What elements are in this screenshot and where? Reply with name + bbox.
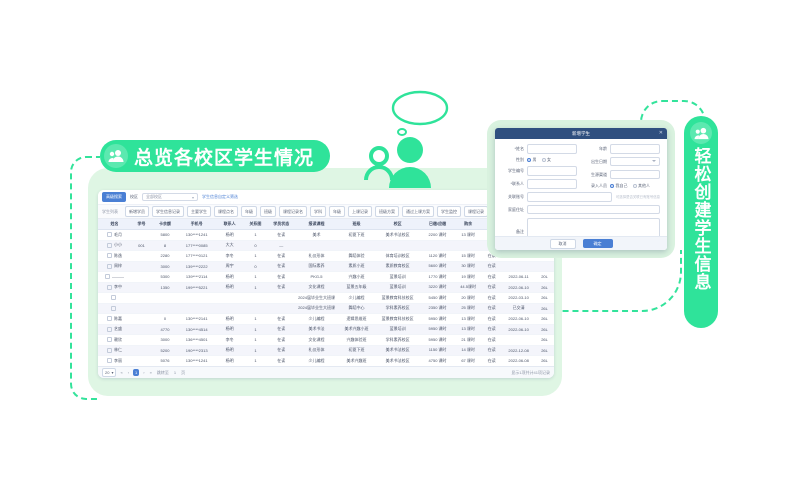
table-row[interactable]: 陈嘉0130****2141杨明1在读少儿编程逻辑思维班蓝景教育科技校区5950…	[98, 314, 554, 325]
field-input[interactable]	[610, 157, 660, 167]
table-cell-campus: 蓝景培训	[375, 324, 420, 335]
column-header[interactable]: 学员状态	[267, 219, 295, 230]
table-cell-name: 周梓	[98, 261, 131, 272]
table-cell-status: 在读	[267, 314, 295, 325]
radio-option[interactable]: 我自己	[610, 183, 628, 189]
row-checkbox[interactable]	[105, 274, 110, 279]
table-cell-left: 20 课时	[455, 293, 481, 304]
people-icon	[104, 144, 128, 168]
table-cell-st: 在读	[481, 335, 502, 346]
table-cell-sid: 001	[131, 240, 152, 251]
table-cell-left: 30 课时	[455, 261, 481, 272]
table-cell-name-text: 毛月	[114, 232, 122, 237]
column-header[interactable]: 手机号	[178, 219, 216, 230]
toolbar-button[interactable]: 学科	[310, 206, 326, 217]
table-cell-pct: 20L	[535, 272, 554, 283]
table-cell-left: 44.5课时	[455, 282, 481, 293]
table-cell-course: PKG-5	[295, 272, 337, 283]
table-cell-rel: 1	[244, 251, 268, 262]
page-next-button[interactable]: ›	[142, 370, 145, 375]
table-row[interactable]: 2024届毕业生大班课少儿编程蓝景教育科技校区5450 课时20 课时在读202…	[98, 293, 554, 304]
table-cell-rel: 1	[244, 356, 268, 367]
table-cell-contact: 杨明	[215, 345, 243, 356]
toolbar-button-group: 新增学员学生信息记录主要学生课程点名年级班级课程记录名学科年级上课记录班级方案通…	[125, 206, 488, 217]
row-checkbox[interactable]	[107, 337, 112, 342]
table-cell-sid	[131, 282, 152, 293]
table-cell-name-text: 李丽	[114, 358, 122, 363]
table-cell-balance: 5800	[152, 230, 178, 241]
table-cell-contact: 杨明	[215, 356, 243, 367]
table-cell-left: 67 课时	[455, 356, 481, 367]
table-cell-name: ———	[98, 272, 131, 283]
table-cell-sid	[131, 314, 152, 325]
table-cell-balance: 3000	[152, 335, 178, 346]
table-cell-name: 李中	[98, 282, 131, 293]
table-cell-balance: 1350	[152, 282, 178, 293]
field-label: *联系人	[502, 181, 524, 187]
table-cell-rel: 1	[244, 335, 268, 346]
table-cell-balance	[152, 303, 178, 314]
radio-option[interactable]: 其他人	[633, 183, 651, 189]
table-cell-paid: 1120 课时	[420, 251, 455, 262]
table-cell-balance: 2280	[152, 251, 178, 262]
table-cell-cls: 美术兴趣班	[338, 356, 376, 367]
form-row: 出生日期	[585, 157, 660, 167]
toolbar-button[interactable]: 年级	[241, 206, 257, 217]
form-row: 性别男女	[502, 157, 577, 163]
table-cell-contact	[215, 303, 243, 314]
table-cell-sid	[131, 303, 152, 314]
table-cell-date: 2022-06-10	[502, 324, 535, 335]
close-icon[interactable]: ✕	[659, 130, 663, 136]
table-row[interactable]: 李丽5076130****1241杨明1在读少儿编程美术兴趣班美术书法校区475…	[98, 356, 554, 367]
radio-label: 女	[547, 157, 551, 163]
form-row: 家庭住址	[502, 205, 660, 215]
table-cell-st: 在读	[481, 324, 502, 335]
column-header[interactable]: 班级	[338, 219, 376, 230]
table-cell-name-text: 赖欣	[114, 337, 122, 342]
radio-dot-icon	[633, 184, 637, 188]
form-row: 年龄	[585, 144, 660, 154]
table-cell-name: 陈嘉	[98, 314, 131, 325]
table-cell-paid: 2200 课时	[420, 230, 455, 241]
row-checkbox[interactable]	[107, 327, 112, 332]
table-cell-pct: 26L	[535, 303, 554, 314]
field-label: 学生编号	[502, 168, 524, 174]
table-cell-contact: 周宇	[215, 261, 243, 272]
page-current[interactable]: 1	[133, 369, 139, 376]
table-cell-name-text: 小小	[114, 242, 122, 247]
confirm-button[interactable]: 确定	[583, 239, 613, 249]
table-cell-pct: 26L	[535, 293, 554, 304]
table-cell-sid	[131, 272, 152, 283]
toolbar-title: 学生列表	[102, 209, 118, 215]
pagination-bar: 20 ▾ « ‹ 1 › » 跳转至 1 页 显示1项共计41项记录	[98, 366, 554, 378]
toolbar-button[interactable]: 班级方案	[375, 206, 399, 217]
table-cell-campus: 美术书法校区	[375, 345, 420, 356]
table-cell-status: 在读	[267, 356, 295, 367]
table-cell-cls: 少儿编程	[338, 293, 376, 304]
table-cell-phone: 136****4501	[178, 335, 216, 346]
table-cell-contact: 李冬	[215, 335, 243, 346]
table-row[interactable]: 2024届毕业生大班课舞蹈中心学科素养校区2350 课时25 课时在读已交清26…	[98, 303, 554, 314]
row-checkbox[interactable]	[111, 306, 116, 311]
table-cell-st: 在读	[481, 345, 502, 356]
table-cell-name-text: 林仁	[114, 347, 122, 352]
form-row: *联系人	[502, 179, 577, 189]
table-cell-campus: 蓝景培训	[375, 282, 420, 293]
left-caption-text: 总览各校区学生情况	[134, 143, 314, 170]
radio-label: 男	[533, 157, 537, 163]
table-cell-course: 文化课程	[295, 282, 337, 293]
table-cell-cls: 舞蹈中心	[338, 303, 376, 314]
field-input[interactable]	[527, 179, 577, 189]
table-cell-course	[295, 240, 337, 251]
table-cell-cls: 初夏下班	[338, 230, 376, 241]
table-cell-rel: 1	[244, 314, 268, 325]
advanced-search-button[interactable]: 高级搜索	[102, 192, 126, 202]
table-row[interactable]: ———5300139****2114杨明1在读PKG-5兴趣小班蓝景培训1770…	[98, 272, 554, 283]
table-cell-sid	[131, 293, 152, 304]
table-cell-cls: 兴趣体验班	[338, 335, 376, 346]
row-checkbox[interactable]	[107, 243, 112, 248]
table-cell-cls: 蓝景五年级	[338, 282, 376, 293]
table-cell-left: 19 课时	[455, 272, 481, 283]
row-checkbox[interactable]	[107, 253, 112, 258]
table-cell-rel: 1	[244, 324, 268, 335]
create-student-dialog: 新增学生 ✕ *姓名性别男女学生编号*联系人 年龄出生日期生源渠道录入人员我自己…	[495, 128, 667, 250]
chevron-down-icon: ▾	[111, 370, 113, 375]
table-cell-status: 在读	[267, 261, 295, 272]
page-first-button[interactable]: «	[119, 370, 123, 375]
table-cell-course: 2024届毕业生大班课	[295, 293, 337, 304]
table-cell-st: 在读	[481, 282, 502, 293]
table-cell-name: 毛月	[98, 230, 131, 241]
toolbar-button[interactable]: 新增学员	[125, 206, 149, 217]
field-hint: 可选择是否关联已有账号信息	[616, 194, 660, 199]
table-cell-sid	[131, 345, 152, 356]
table-cell-name-text: ———	[112, 274, 124, 279]
table-cell-sid	[131, 335, 152, 346]
dialog-title-bar: 新增学生 ✕	[495, 128, 667, 139]
dialog-body: *姓名性别男女学生编号*联系人 年龄出生日期生源渠道录入人员我自己其他人 关联账…	[495, 139, 667, 246]
table-cell-name: 陈逸	[98, 251, 131, 262]
table-row[interactable]: 毛月5800130****1241杨明1在读美术初夏下班美术书法校区2200 课…	[98, 230, 554, 241]
dialog-title: 新增学生	[572, 131, 590, 137]
table-cell-cls: 素质小班	[338, 261, 376, 272]
toolbar-button[interactable]: 课程记录名	[279, 206, 307, 217]
filter-bar: 高级搜索 校区 全部校区 ▾ 学生信息自定义筛选	[98, 190, 554, 205]
table-cell-campus	[375, 240, 420, 251]
table-cell-name-text: 艺盛	[114, 326, 122, 331]
radio-label: 我自己	[616, 183, 628, 189]
table-cell-balance: 5200	[152, 345, 178, 356]
table-cell-contact: 杨明	[215, 272, 243, 283]
toolbar-button[interactable]: 课程点名	[214, 206, 238, 217]
table-cell-st: 在读	[481, 293, 502, 304]
radio-option[interactable]: 男	[527, 157, 537, 163]
table-cell-phone	[178, 293, 216, 304]
dialog-right-column: 年龄出生日期生源渠道录入人员我自己其他人	[585, 144, 660, 192]
form-row: 学生编号	[502, 166, 577, 176]
jump-label: 跳转至	[156, 370, 170, 376]
custom-filter-link[interactable]: 学生信息自定义筛选	[202, 194, 238, 200]
toolbar-button[interactable]: 学生监控	[437, 206, 461, 217]
table-cell-paid: 5950 课时	[420, 335, 455, 346]
table-cell-contact: 杨明	[215, 282, 243, 293]
toolbar-button[interactable]: 主要学生	[187, 206, 211, 217]
table-cell-name: 艺盛	[98, 324, 131, 335]
table-cell-date: 2022-06-08	[502, 356, 535, 367]
table-cell-st: 在读	[481, 272, 502, 283]
table-cell-sid	[131, 251, 152, 262]
toolbar-button[interactable]: 班级	[260, 206, 276, 217]
table-cell-pct: 26L	[535, 356, 554, 367]
table-cell-status: 在读	[267, 324, 295, 335]
table-cell-left: 21 课时	[455, 335, 481, 346]
column-header[interactable]: 已缴/应缴	[420, 219, 455, 230]
table-cell-date: 2022-06-10	[502, 314, 535, 325]
table-cell-name-text: 李中	[114, 284, 122, 289]
table-cell-left: 15 课时	[455, 251, 481, 262]
table-cell-balance: 4770	[152, 324, 178, 335]
table-cell-paid: 5950 课时	[420, 324, 455, 335]
table-cell-name-text: 周梓	[114, 263, 122, 268]
form-row: 生源渠道	[585, 170, 660, 180]
table-cell-st: 在读	[481, 314, 502, 325]
page-size-value: 20	[105, 370, 109, 375]
field-label: *姓名	[502, 146, 524, 152]
table-cell-contact: 杨明	[215, 230, 243, 241]
table-cell-pct: 26L	[535, 314, 554, 325]
people-illustration	[358, 88, 468, 188]
student-table: 姓名学号卡余额手机号联系人关系图学员状态报读课程班级校区已缴/应缴购余状态缴费日…	[98, 219, 554, 377]
column-header[interactable]: 联系人	[215, 219, 243, 230]
field-input[interactable]	[527, 144, 577, 154]
table-cell-phone: 139****2114	[178, 272, 216, 283]
row-checkbox[interactable]	[111, 295, 116, 300]
table-cell-st: 在读	[481, 303, 502, 314]
table-cell-rel	[244, 293, 268, 304]
table-cell-course: 文化课程	[295, 335, 337, 346]
table-cell-course: 礼仪形体	[295, 345, 337, 356]
table-cell-phone	[178, 303, 216, 314]
field-label: 备注	[502, 229, 524, 235]
jump-input[interactable]: 1	[173, 370, 177, 375]
field-input[interactable]	[527, 205, 660, 215]
table-cell-paid: 5950 课时	[420, 314, 455, 325]
table-cell-left: 14 课时	[455, 345, 481, 356]
form-row: *姓名	[502, 144, 577, 154]
row-checkbox[interactable]	[107, 316, 112, 321]
people-icon	[690, 122, 712, 144]
table-cell-balance: 3000	[152, 261, 178, 272]
table-body: 毛月5800130****1241杨明1在读美术初夏下班美术书法校区2200 课…	[98, 230, 554, 377]
table-cell-st: 在读	[481, 356, 502, 367]
table-cell-cls: 兴趣小班	[338, 272, 376, 283]
table-cell-course: 礼仪形体	[295, 251, 337, 262]
field-label: 生源渠道	[585, 172, 607, 178]
table-cell-paid: 1770 课时	[420, 272, 455, 283]
field-input[interactable]	[527, 166, 577, 176]
table-row[interactable]: 林仁5200190****2313杨明1在读礼仪形体初夏下班美术书法校区1150…	[98, 345, 554, 356]
column-header[interactable]: 关系图	[244, 219, 268, 230]
radio-dot-icon	[527, 158, 531, 162]
table-cell-course: 美术	[295, 230, 337, 241]
table-cell-rel: 0	[244, 261, 268, 272]
table-cell-campus: 美术书法校区	[375, 356, 420, 367]
table-cell-phone: 190****2313	[178, 345, 216, 356]
table-cell-left: 13 课时	[455, 314, 481, 325]
table-header-row: 姓名学号卡余额手机号联系人关系图学员状态报读课程班级校区已缴/应缴购余状态缴费日…	[98, 219, 554, 230]
table-row[interactable]: 赖欣3000136****4501李冬1在读文化课程兴趣体验班学科素养校区595…	[98, 335, 554, 346]
table-cell-cls: 逻辑思维班	[338, 314, 376, 325]
jump-unit: 页	[180, 370, 186, 376]
row-checkbox[interactable]	[107, 232, 112, 237]
table-cell-name	[98, 303, 131, 314]
chevron-down-icon: ▾	[192, 195, 194, 200]
dialog-left-column: *姓名性别男女学生编号*联系人	[502, 144, 577, 192]
page-last-button[interactable]: »	[149, 370, 153, 375]
table-cell-name	[98, 293, 131, 304]
form-row: 录入人员我自己其他人	[585, 183, 660, 189]
table-cell-balance	[152, 293, 178, 304]
table-row[interactable]: 李中1350199****5221杨明1在读文化课程蓝景五年级蓝景培训3220 …	[98, 282, 554, 293]
column-header[interactable]: 购余	[455, 219, 481, 230]
table-cell-date: 2022-12-08	[502, 345, 535, 356]
table-cell-phone: 177****0085	[178, 240, 216, 251]
table-cell-name-text: 陈逸	[114, 253, 122, 258]
field-label: 家庭住址	[502, 207, 524, 213]
table-cell-cls	[338, 240, 376, 251]
table-cell-course: 少儿编程	[295, 356, 337, 367]
column-header[interactable]: 学号	[131, 219, 152, 230]
table-cell-phone: 130****1241	[178, 356, 216, 367]
table-cell-rel: 1	[244, 282, 268, 293]
table-cell-contact: 杨明	[215, 314, 243, 325]
table-cell-st: 在读	[481, 261, 502, 272]
table-cell-pct: 26L	[535, 335, 554, 346]
table-cell-status: 在读	[267, 230, 295, 241]
page-size-select[interactable]: 20 ▾	[102, 368, 116, 377]
table-cell-status	[267, 303, 295, 314]
radio-dot-icon	[542, 158, 546, 162]
table-row[interactable]: 艺盛4770130****4514杨明1在读美术书法美术兴趣小班蓝景培训5950…	[98, 324, 554, 335]
table-cell-status: 在读	[267, 335, 295, 346]
table-cell-date: 2022-06-10	[502, 282, 535, 293]
table-cell-sid	[131, 261, 152, 272]
field-label: 性别	[502, 157, 524, 163]
toolbar-button[interactable]: 上课记录	[348, 206, 372, 217]
column-header[interactable]: 姓名	[98, 219, 131, 230]
table-cell-paid	[420, 240, 455, 251]
table-cell-contact: 大大	[215, 240, 243, 251]
campus-filter-select[interactable]: 全部校区 ▾	[142, 193, 198, 201]
table-cell-name: 林仁	[98, 345, 131, 356]
table-cell-sid	[131, 356, 152, 367]
table-cell-campus: 学科素养校区	[375, 303, 420, 314]
table-row[interactable]: 周梓3000139****2222周宇0在读国际素养素质小班素质教育校区5600…	[98, 261, 554, 272]
table-cell-phone: 139****2222	[178, 261, 216, 272]
table-cell-phone: 130****4514	[178, 324, 216, 335]
table-cell-rel: 1	[244, 345, 268, 356]
column-header[interactable]: 报读课程	[295, 219, 337, 230]
table-cell-contact: 杨明	[215, 324, 243, 335]
table-cell-paid: 5450 课时	[420, 293, 455, 304]
table-cell-name: 赖欣	[98, 335, 131, 346]
table-cell-cls: 舞蹈体验	[338, 251, 376, 262]
toolbar-button[interactable]: 课程记录	[464, 206, 488, 217]
table-cell-balance: 8	[152, 240, 178, 251]
table-cell-pct: 26L	[535, 345, 554, 356]
field-input[interactable]	[527, 192, 612, 202]
table-cell-paid: 1150 课时	[420, 345, 455, 356]
toolbar-button[interactable]: 通过上课方案	[402, 206, 434, 217]
table-row[interactable]: 小小0018177****0085大大0—	[98, 240, 554, 251]
field-input[interactable]	[610, 144, 660, 154]
table-cell-rel: 0	[244, 240, 268, 251]
table-cell-campus: 素质教育校区	[375, 261, 420, 272]
row-checkbox[interactable]	[107, 358, 112, 363]
page-prev-button[interactable]: ‹	[127, 370, 130, 375]
table-cell-status: 在读	[267, 272, 295, 283]
table-cell-phone: 199****5221	[178, 282, 216, 293]
table-cell-rel	[244, 303, 268, 314]
table-cell-balance: 5076	[152, 356, 178, 367]
table-cell-campus: 体育培训校区	[375, 251, 420, 262]
table-cell-name: 小小	[98, 240, 131, 251]
field-label: 录入人员	[585, 183, 607, 189]
table-cell-pct: 26L	[535, 282, 554, 293]
table-cell-left: 13 课时	[455, 230, 481, 241]
column-header[interactable]: 卡余额	[152, 219, 178, 230]
table-cell-cls: 初夏下班	[338, 345, 376, 356]
campus-filter-value: 全部校区	[146, 194, 162, 200]
table-cell-status: —	[267, 240, 295, 251]
cancel-button[interactable]: 取消	[550, 239, 576, 249]
row-checkbox[interactable]	[107, 348, 112, 353]
field-label: 关联账号	[502, 194, 524, 200]
table-cell-status	[267, 293, 295, 304]
left-caption-pill: 总览各校区学生情况	[100, 140, 330, 172]
table-cell-paid: 5600 课时	[420, 261, 455, 272]
column-header[interactable]: 校区	[375, 219, 420, 230]
radio-dot-icon	[610, 184, 614, 188]
toolbar-button[interactable]: 年级	[329, 206, 345, 217]
table-toolbar: 学生列表 新增学员学生信息记录主要学生课程点名年级班级课程记录名学科年级上课记录…	[98, 205, 554, 219]
table-cell-paid: 2350 课时	[420, 303, 455, 314]
table-cell-campus: 蓝景教育科技校区	[375, 314, 420, 325]
campus-filter-label: 校区	[130, 194, 138, 200]
record-total: 显示1项共计41项记录	[511, 370, 550, 376]
table-cell-contact	[215, 293, 243, 304]
table-row[interactable]: 陈逸2280177****0121李冬1在读礼仪形体舞蹈体验体育培训校区1120…	[98, 251, 554, 262]
row-checkbox[interactable]	[107, 264, 112, 269]
row-checkbox[interactable]	[107, 285, 112, 290]
table-cell-name: 李丽	[98, 356, 131, 367]
field-input[interactable]	[610, 170, 660, 180]
table-cell-left	[455, 240, 481, 251]
table-cell-date: 2022-03-10	[502, 293, 535, 304]
radio-option[interactable]: 女	[542, 157, 552, 163]
table-cell-phone: 130****1241	[178, 230, 216, 241]
table-cell-contact: 李冬	[215, 251, 243, 262]
table-cell-campus: 蓝景教育科技校区	[375, 293, 420, 304]
table-cell-paid: 3220 课时	[420, 282, 455, 293]
table-cell-name-text: 陈嘉	[114, 316, 122, 321]
toolbar-button[interactable]: 学生信息记录	[152, 206, 184, 217]
table-cell-status: 在读	[267, 345, 295, 356]
